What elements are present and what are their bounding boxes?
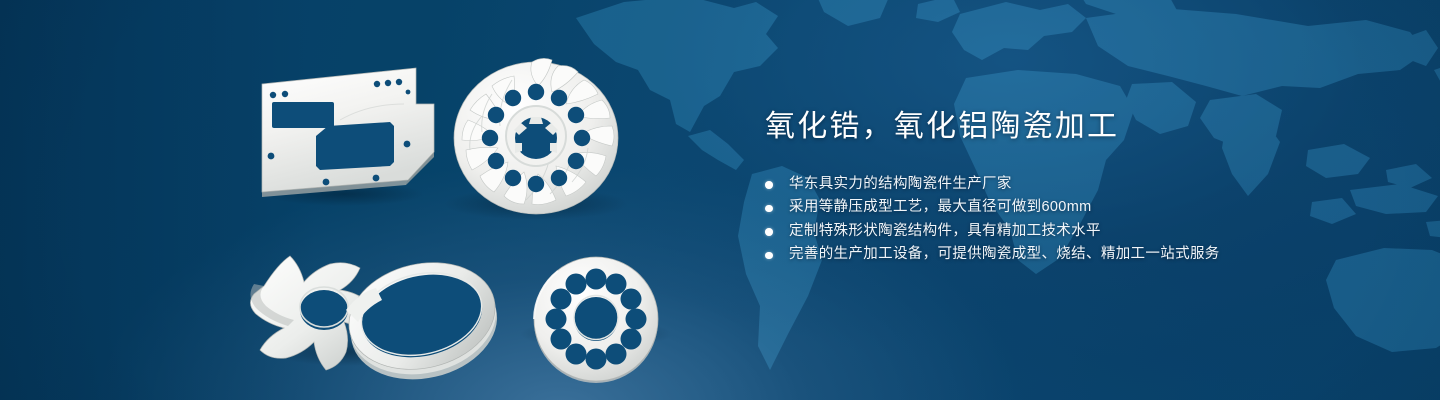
bullet-dot-icon [765, 205, 773, 213]
feature-list-item: 定制特殊形状陶瓷结构件，具有精加工技术水平 [765, 220, 1325, 244]
ceramic-mounting-plate-shape [262, 68, 434, 197]
bullet-dot-icon [765, 181, 773, 189]
feature-text: 采用等静压成型工艺，最大直径可做到600mm [789, 199, 1092, 215]
feature-list-item: 完善的生产加工设备，可提供陶瓷成型、烧结、精加工一站式服务 [765, 243, 1325, 267]
bullet-dot-icon [765, 252, 773, 260]
feature-text: 华东具实力的结构陶瓷件生产厂家 [789, 176, 1012, 192]
ceramic-valve-plate-shape [534, 257, 658, 383]
feature-list: 华东具实力的结构陶瓷件生产厂家 采用等静压成型工艺，最大直径可做到600mm 定… [765, 173, 1325, 267]
feature-list-item: 采用等静压成型工艺，最大直径可做到600mm [765, 196, 1325, 220]
feature-text: 完善的生产加工设备，可提供陶瓷成型、烧结、精加工一站式服务 [789, 246, 1220, 262]
feature-text: 定制特殊形状陶瓷结构件，具有精加工技术水平 [789, 223, 1101, 239]
ceramic-impeller-disc-shape [454, 58, 618, 214]
bullet-dot-icon [765, 228, 773, 236]
banner-title: 氧化锆，氧化铝陶瓷加工 [765, 108, 1325, 146]
banner-copy: 氧化锆，氧化铝陶瓷加工 华东具实力的结构陶瓷件生产厂家 采用等静压成型工艺，最大… [765, 108, 1325, 267]
hero-banner: 氧化锆，氧化铝陶瓷加工 华东具实力的结构陶瓷件生产厂家 采用等静压成型工艺，最大… [0, 0, 1440, 400]
ceramic-seal-ring-shape [338, 249, 508, 394]
feature-list-item: 华东具实力的结构陶瓷件生产厂家 [765, 173, 1325, 197]
ceramic-products-image [236, 34, 706, 384]
